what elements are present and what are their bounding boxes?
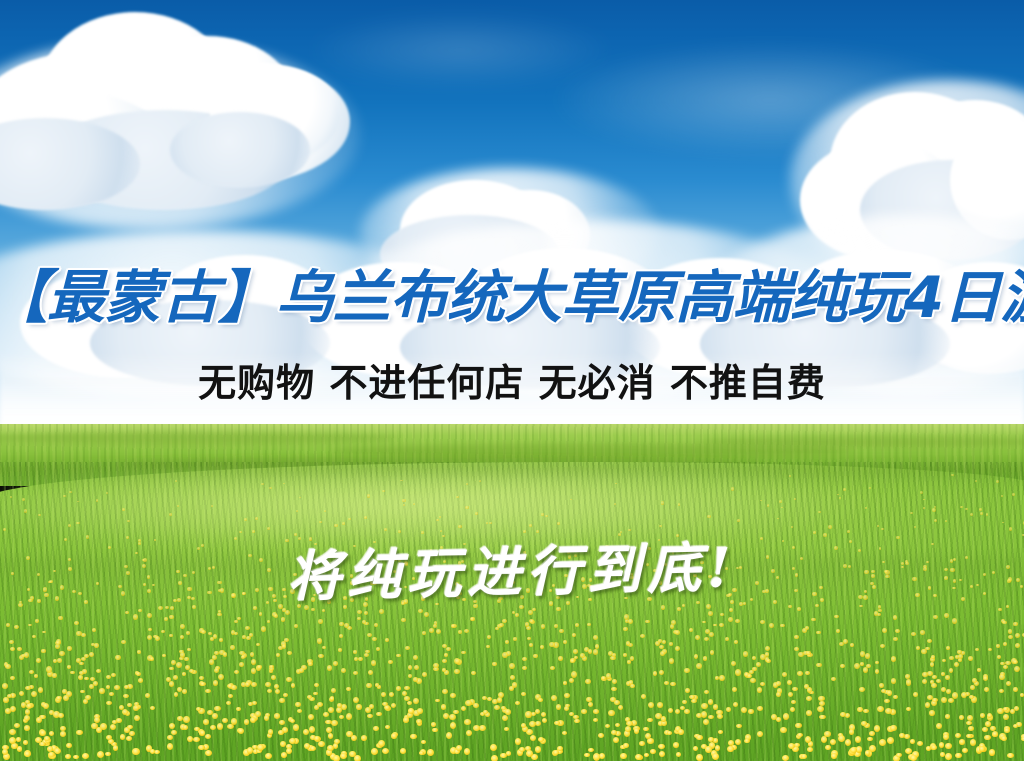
dandelion-flower — [25, 686, 31, 691]
dandelion-flower — [532, 608, 536, 611]
dandelion-flower — [58, 713, 64, 718]
dandelion-flower — [267, 527, 270, 530]
dandelion-flower — [340, 753, 347, 760]
dandelion-flower — [246, 636, 251, 640]
dandelion-flower — [293, 724, 299, 731]
dandelion-flower — [564, 693, 570, 698]
dandelion-flower — [470, 617, 474, 621]
dandelion-flower — [77, 501, 79, 502]
dandelion-flower — [322, 646, 326, 649]
dandelion-flower — [757, 706, 763, 711]
dandelion-flower — [708, 715, 714, 719]
dandelion-flower — [323, 712, 330, 717]
dandelion-flower — [983, 676, 988, 681]
dandelion-flower — [874, 611, 878, 615]
dandelion-flower — [334, 524, 338, 527]
dandelion-flower — [588, 748, 594, 752]
dandelion-flower — [357, 610, 362, 614]
dandelion-flower — [985, 721, 991, 727]
dandelion-flower — [19, 691, 24, 696]
dandelion-flower — [962, 748, 968, 754]
dandelion-flower — [40, 730, 46, 736]
dandelion-flower — [767, 504, 770, 507]
dandelion-flower — [299, 497, 301, 499]
dandelion-flower — [593, 718, 598, 722]
dandelion-flower — [259, 612, 263, 616]
dandelion-flower — [123, 694, 129, 698]
dandelion-flower — [184, 657, 189, 661]
dandelion-flower — [878, 605, 881, 608]
dandelion-flower — [494, 705, 500, 710]
dandelion-flower — [3, 697, 9, 702]
dandelion-flower — [709, 632, 714, 637]
dandelion-flower — [982, 727, 988, 732]
dandelion-flower — [682, 604, 686, 607]
dandelion-flower — [1010, 709, 1015, 715]
dandelion-flower — [797, 733, 803, 737]
dandelion-flower — [946, 646, 950, 650]
dandelion-flower — [473, 703, 479, 708]
dandelion-flower — [533, 654, 538, 658]
dandelion-flower — [274, 713, 280, 718]
dandelion-flower — [1008, 635, 1013, 640]
dandelion-flower — [115, 655, 121, 661]
dandelion-flower — [110, 724, 116, 730]
dandelion-flower — [213, 680, 219, 686]
dandelion-flower — [111, 673, 116, 678]
dandelion-flower — [615, 723, 620, 727]
dandelion-flower — [648, 702, 654, 708]
dandelion-flower — [24, 652, 29, 658]
dandelion-flower — [76, 522, 80, 525]
dandelion-flower — [865, 653, 870, 658]
dandelion-flower — [966, 721, 972, 726]
dandelion-flower — [174, 692, 179, 697]
dandelion-flower — [966, 734, 972, 739]
dandelion-flower — [38, 687, 44, 693]
dandelion-flower — [317, 702, 323, 707]
dandelion-flower — [788, 605, 791, 608]
dandelion-flower — [344, 623, 349, 628]
dandelion-flower — [951, 474, 954, 477]
dandelion-flower — [446, 732, 453, 739]
dandelion-flower — [209, 659, 214, 665]
dandelion-flower — [521, 692, 526, 696]
dandelion-flower — [838, 735, 845, 742]
dandelion-flower — [934, 506, 936, 508]
dandelion-flower — [944, 613, 949, 618]
dandelion-flower — [647, 718, 653, 723]
dandelion-flower — [167, 743, 173, 750]
dandelion-flower — [433, 624, 437, 628]
dandelion-flower — [998, 608, 1002, 612]
dandelion-flower — [817, 706, 824, 712]
dandelion-flower — [286, 677, 292, 682]
dandelion-flower — [63, 495, 66, 497]
dandelion-flower — [10, 706, 16, 712]
dandelion-flower — [781, 507, 783, 509]
dandelion-flower — [949, 656, 954, 660]
dandelion-flower — [205, 734, 211, 739]
dandelion-flower — [910, 739, 916, 744]
dandelion-flower — [413, 655, 418, 660]
dandelion-flower — [422, 672, 427, 678]
dandelion-flower — [48, 752, 55, 757]
dandelion-flower — [401, 618, 406, 622]
dandelion-flower — [441, 704, 446, 709]
dandelion-flower — [550, 666, 555, 670]
dandelion-flower — [81, 633, 86, 637]
dandelion-flower — [529, 524, 532, 527]
dandelion-flower — [223, 652, 227, 656]
dandelion-flower — [307, 695, 313, 699]
dandelion-flower — [538, 737, 544, 742]
dandelion-flower — [689, 695, 694, 699]
dandelion-flower — [351, 735, 357, 741]
dandelion-flower — [923, 499, 925, 501]
dandelion-flower — [797, 607, 801, 611]
dandelion-flower — [913, 692, 918, 698]
dandelion-flower — [836, 629, 840, 633]
dandelion-flower — [375, 683, 380, 687]
dandelion-flower — [106, 701, 112, 706]
dandelion-flower — [367, 494, 370, 497]
dandelion-flower — [150, 657, 154, 661]
dandelion-flower — [959, 715, 964, 720]
dandelion-flower — [187, 648, 192, 651]
dandelion-flower — [127, 725, 133, 730]
dandelion-flower — [283, 483, 285, 485]
dandelion-flower — [867, 737, 873, 742]
dandelion-flower — [744, 739, 750, 744]
dandelion-flower — [427, 749, 434, 756]
dandelion-flower — [958, 654, 963, 659]
dandelion-flower — [42, 631, 46, 634]
dandelion-flower — [317, 638, 322, 643]
dandelion-flower — [187, 736, 193, 743]
dandelion-flower — [936, 723, 942, 729]
dandelion-flower — [896, 753, 902, 758]
dandelion-flower — [54, 748, 61, 754]
dandelion-flower — [1015, 633, 1020, 638]
dandelion-flower — [669, 642, 674, 646]
dandelion-flower — [505, 640, 510, 644]
dandelion-flower — [418, 609, 423, 613]
dandelion-flower — [696, 754, 702, 761]
dandelion-flower — [330, 696, 335, 701]
dandelion-flower — [658, 744, 664, 749]
dandelion-flower — [525, 622, 530, 627]
dandelion-flower — [551, 695, 557, 701]
dandelion-flower — [268, 729, 273, 735]
dandelion-flower — [339, 634, 343, 638]
dandelion-flower — [327, 665, 332, 670]
dandelion-flower — [678, 503, 680, 505]
dandelion-flower — [559, 629, 564, 634]
dandelion-flower — [442, 689, 448, 694]
dandelion-flower — [735, 619, 740, 623]
dandelion-flower — [779, 500, 782, 503]
dandelion-flower — [382, 490, 385, 492]
dandelion-flower — [906, 707, 911, 711]
dandelion-flower — [869, 487, 871, 489]
dandelion-flower — [22, 498, 25, 501]
dandelion-flower — [439, 516, 441, 518]
dandelion-flower — [515, 738, 521, 745]
dandelion-flower — [618, 705, 623, 710]
dandelion-flower — [228, 694, 234, 698]
dandelion-flower — [199, 676, 204, 680]
dandelion-flower — [972, 678, 977, 683]
dandelion-flower — [505, 709, 511, 715]
dandelion-flower — [41, 649, 46, 652]
dandelion-flower — [256, 643, 260, 646]
dandelion-flower — [133, 614, 138, 619]
dandelion-flower — [366, 683, 371, 688]
dandelion-flower — [182, 672, 187, 676]
dandelion-flower — [792, 687, 798, 691]
dandelion-flower — [56, 696, 62, 701]
dandelion-flower — [806, 696, 812, 701]
dandelion-flower — [84, 654, 89, 658]
dandelion-flower — [992, 731, 998, 737]
dandelion-flower — [278, 730, 285, 735]
dandelion-flower — [464, 629, 469, 633]
dandelion-flower — [605, 724, 611, 729]
dandelion-flower — [82, 753, 89, 759]
dandelion-flower — [760, 500, 762, 502]
dandelion-flower — [364, 611, 368, 615]
dandelion-flower — [182, 689, 187, 694]
dandelion-flower — [245, 626, 250, 630]
dandelion-flower — [120, 734, 125, 740]
dandelion-flower — [563, 640, 568, 645]
dandelion-flower — [782, 755, 789, 761]
dandelion-flower — [920, 491, 923, 494]
dandelion-flower — [840, 712, 846, 717]
dandelion-flower — [443, 713, 449, 719]
dandelion-flower — [29, 670, 34, 674]
dandelion-flower — [67, 646, 72, 651]
dandelion-flower — [396, 686, 402, 691]
dandelion-flower — [269, 487, 272, 489]
dandelion-flower — [819, 701, 825, 707]
dandelion-flower — [538, 698, 544, 702]
dandelion-flower — [132, 748, 139, 755]
dandelion-flower — [105, 752, 111, 757]
dandelion-flower — [91, 723, 98, 729]
dandelion-flower — [704, 637, 709, 641]
dandelion-flower — [339, 622, 344, 627]
dandelion-flower — [535, 709, 540, 714]
dandelion-flower — [271, 675, 276, 680]
dandelion-flower — [378, 740, 385, 747]
dandelion-flower — [922, 679, 927, 684]
dandelion-flower — [732, 687, 737, 692]
dandelion-flower — [68, 524, 71, 527]
dandelion-flower — [79, 662, 84, 666]
dandelion-flower — [169, 681, 174, 687]
dandelion-flower — [869, 745, 876, 752]
dandelion-flower — [173, 675, 178, 680]
dandelion-flower — [267, 620, 271, 623]
dandelion-flower — [794, 635, 798, 639]
dandelion-flower — [719, 675, 725, 682]
dandelion-flower — [515, 701, 521, 705]
dandelion-flower — [875, 669, 880, 674]
dandelion-flower — [35, 619, 39, 622]
dandelion-flower — [376, 647, 380, 652]
dandelion-flower — [945, 675, 950, 680]
dandelion-flower — [169, 723, 175, 729]
dandelion-flower — [741, 707, 747, 713]
dandelion-flower — [155, 636, 160, 642]
dandelion-flower — [465, 506, 468, 509]
dandelion-flower — [703, 656, 708, 660]
dandelion-flower — [134, 715, 140, 722]
dandelion-flower — [10, 647, 15, 652]
dandelion-flower — [417, 708, 423, 713]
dandelion-flower — [815, 604, 819, 607]
dandelion-flower — [881, 689, 886, 693]
dandelion-flower — [126, 736, 132, 741]
dandelion-flower — [574, 719, 579, 723]
dandelion-flower — [261, 626, 266, 632]
dandelion-flower — [414, 665, 419, 670]
dandelion-flower — [659, 751, 665, 757]
dandelion-flower — [261, 483, 264, 485]
dandelion-flower — [556, 607, 561, 612]
dandelion-flower — [968, 726, 974, 731]
dandelion-flower — [719, 623, 724, 627]
dandelion-flower — [14, 723, 20, 728]
dandelion-flower — [175, 480, 177, 482]
dandelion-flower — [429, 628, 434, 633]
dandelion-flower — [1000, 662, 1005, 666]
dandelion-flower — [760, 654, 766, 660]
dandelion-flower — [975, 648, 980, 651]
dandelion-flower — [295, 702, 300, 707]
dandelion-flower — [556, 704, 561, 709]
dandelion-flower — [10, 496, 12, 498]
dandelion-flower — [269, 665, 274, 668]
dandelion-flower — [169, 667, 174, 670]
dandelion-flower — [346, 687, 351, 691]
dandelion-flower — [319, 521, 321, 523]
dandelion-flower — [169, 513, 172, 516]
dandelion-flower — [989, 749, 995, 755]
dandelion-flower — [627, 660, 632, 664]
dandelion-flower — [127, 703, 132, 708]
dandelion-flower — [794, 743, 800, 747]
dandelion-flower — [137, 650, 141, 654]
dandelion-flower — [861, 721, 867, 726]
dandelion-flower — [89, 652, 94, 657]
dandelion-flower — [222, 718, 228, 723]
dandelion-flower — [385, 638, 389, 642]
dandelion-flower — [704, 690, 709, 694]
dandelion-flower — [379, 609, 384, 614]
dandelion-flower — [368, 670, 373, 675]
dandelion-flower — [874, 725, 881, 732]
dandelion-flower — [198, 745, 205, 750]
dandelion-flower — [1015, 643, 1020, 648]
dandelion-flower — [752, 656, 756, 660]
dandelion-flower — [32, 635, 36, 639]
dandelion-flower — [413, 503, 415, 505]
dandelion-flower — [661, 605, 665, 610]
dandelion-flower — [435, 699, 440, 703]
dandelion-flower — [731, 661, 736, 666]
dandelion-flower — [865, 507, 868, 509]
dandelion-flower — [1014, 706, 1019, 711]
dandelion-flower — [250, 652, 255, 657]
dandelion-flower — [529, 643, 534, 647]
dandelion-flower — [671, 620, 676, 625]
dandelion-flower — [657, 702, 663, 708]
dandelion-flower — [183, 716, 190, 723]
dandelion-flower — [910, 755, 917, 761]
dandelion-flower — [180, 635, 184, 639]
dandelion-flower — [575, 623, 579, 627]
dandelion-flower — [106, 735, 112, 740]
dandelion-flower — [509, 686, 514, 691]
dandelion-flower — [456, 496, 458, 498]
dandelion-flower — [1008, 629, 1013, 634]
dandelion-flower — [984, 687, 989, 693]
dandelion-flower — [464, 719, 471, 725]
dandelion-flower — [535, 721, 541, 726]
dandelion-flower — [281, 752, 288, 758]
dandelion-flower — [675, 646, 680, 652]
dandelion-flower — [318, 741, 325, 747]
dandelion-flower — [218, 674, 224, 681]
dandelion-flower — [234, 670, 239, 674]
dandelion-flower — [24, 751, 31, 757]
dandelion-flower — [707, 515, 711, 518]
dandelion-flower — [558, 656, 563, 660]
dandelion-flower — [318, 654, 324, 658]
dandelion-flower — [541, 624, 546, 629]
dandelion-flower — [78, 675, 83, 679]
dandelion-flower — [309, 726, 316, 733]
dandelion-flower — [416, 719, 422, 724]
dandelion-flower — [529, 619, 534, 623]
dandelion-flower — [562, 731, 568, 735]
dandelion-flower — [244, 518, 247, 521]
dandelion-flower — [626, 641, 631, 646]
dandelion-flower — [138, 678, 144, 682]
dandelion-flower — [585, 679, 590, 685]
dandelion-flower — [479, 725, 486, 731]
dandelion-flower — [766, 659, 771, 663]
dandelion-flower — [921, 649, 926, 654]
dandelion-flower — [931, 683, 937, 689]
dandelion-flower — [932, 508, 936, 512]
dandelion-flower — [327, 745, 333, 751]
dandelion-flower — [5, 664, 11, 669]
dandelion-flower — [372, 637, 377, 642]
dandelion-flower — [945, 743, 951, 749]
dandelion-flower — [675, 709, 680, 714]
dandelion-flower — [1014, 666, 1020, 672]
dandelion-flower — [274, 614, 278, 618]
dandelion-flower — [100, 723, 107, 730]
dandelion-flower — [23, 740, 29, 745]
dandelion-flower — [114, 685, 120, 690]
dandelion-flower — [553, 750, 559, 755]
dandelion-flower — [801, 754, 807, 760]
